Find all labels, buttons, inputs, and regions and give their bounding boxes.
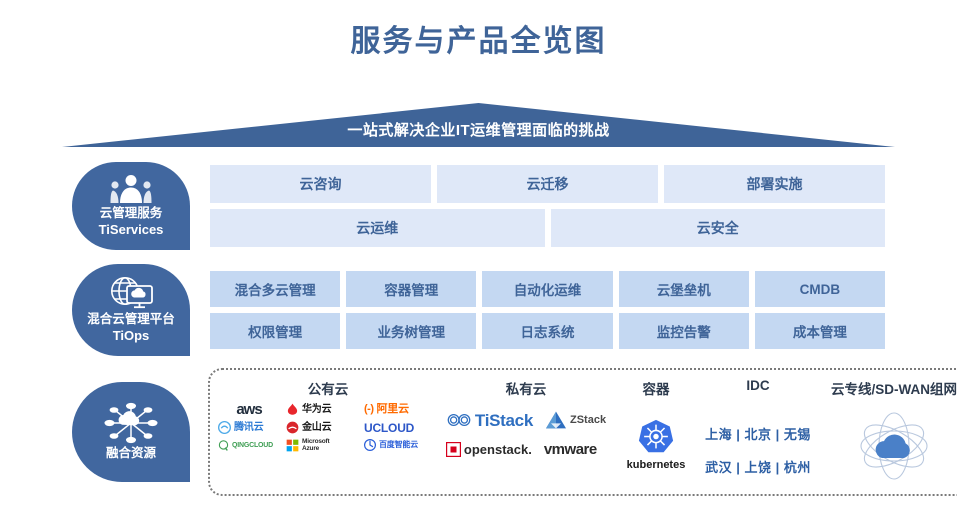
public-cloud-logos: aws 华为云 (-) 阿里云 腾讯云 (218, 402, 438, 453)
resource-column-idc: IDC 上海 | 北京 | 无锡 武汉 | 上饶 | 杭州 (702, 378, 814, 488)
roof-banner: 一站式解决企业IT运维管理面临的挑战 (62, 103, 895, 147)
baidu-cloud-logo[interactable]: 百度智能云 (364, 439, 438, 451)
kubernetes-logo[interactable]: kubernetes (627, 418, 686, 471)
team-people-icon (110, 174, 152, 204)
idc-locations: 上海 | 北京 | 无锡 武汉 | 上饶 | 杭州 (705, 420, 811, 476)
cell-container-mgmt[interactable]: 容器管理 (346, 271, 476, 307)
badge-label: 融合资源 (106, 446, 156, 462)
logo-line: aws 华为云 (-) 阿里云 (218, 402, 438, 417)
kubernetes-helm-icon (637, 418, 675, 456)
idc-line-1: 上海 | 北京 | 无锡 (705, 424, 811, 443)
badge-tiops[interactable]: 混合云管理平台 TiOps (72, 264, 190, 356)
microsoft-azure-logo[interactable]: Microsoft Azure (286, 438, 358, 453)
ops-cell-grid: 混合多云管理 容器管理 自动化运维 云堡垒机 CMDB 权限管理 业务树管理 日… (210, 271, 885, 349)
badge-converged-resources[interactable]: 融合资源 (72, 382, 190, 482)
baidu-mark-icon (364, 439, 376, 451)
cell-multicloud-mgmt[interactable]: 混合多云管理 (210, 271, 340, 307)
tistack-mark-icon (446, 410, 472, 430)
badge-tiservices[interactable]: 云管理服务 TiServices (72, 162, 190, 250)
cell-cloud-ops[interactable]: 云运维 (210, 209, 545, 247)
row-cloud-managed-services: 云管理服务 TiServices 云咨询 云迁移 部署实施 云运维 云安全 (0, 158, 957, 254)
cell-automation-ops[interactable]: 自动化运维 (482, 271, 612, 307)
cell-cloud-migration[interactable]: 云迁移 (437, 165, 658, 203)
services-cell-grid: 云咨询 云迁移 部署实施 云运维 云安全 (210, 165, 885, 247)
resource-column-private-cloud: 私有云 TiStack (442, 378, 610, 488)
openstack-logo[interactable]: openstack. (446, 442, 532, 457)
resource-column-public-cloud: 公有云 aws 华为云 (-) 阿里云 (214, 378, 442, 488)
aliyun-logo[interactable]: (-) 阿里云 (364, 404, 438, 415)
badge-label: 云管理服务 (100, 206, 163, 222)
zstack-logo[interactable]: ZStack (545, 410, 606, 430)
microsoft-squares-icon (286, 439, 299, 452)
column-heading: 公有云 (308, 378, 349, 396)
tencent-mark-icon (218, 421, 231, 434)
services-row-1: 云咨询 云迁移 部署实施 (210, 165, 885, 203)
column-heading: IDC (746, 378, 769, 396)
huawei-cloud-logo[interactable]: 华为云 (286, 403, 358, 416)
cell-cmdb[interactable]: CMDB (755, 271, 885, 307)
vmware-logo[interactable]: vmware (544, 442, 597, 457)
zstack-mark-icon (545, 410, 567, 430)
tistack-logo[interactable]: TiStack (446, 410, 533, 430)
resource-column-sdwan: 云专线/SD-WAN组网 (814, 378, 957, 488)
kubernetes-label: kubernetes (627, 459, 686, 471)
cell-business-tree[interactable]: 业务树管理 (346, 313, 476, 349)
huawei-mark-icon (286, 403, 299, 416)
cell-cloud-bastion[interactable]: 云堡垒机 (619, 271, 749, 307)
idc-line-2: 武汉 | 上饶 | 杭州 (705, 457, 811, 476)
cell-monitoring-alerts[interactable]: 监控告警 (619, 313, 749, 349)
cell-cost-mgmt[interactable]: 成本管理 (755, 313, 885, 349)
resource-column-container: 容器 k (610, 378, 702, 488)
qingcloud-logo[interactable]: QINGCLOUD (218, 440, 280, 451)
ucloud-logo[interactable]: UCLOUD (364, 422, 438, 434)
column-heading: 私有云 (506, 378, 547, 396)
cell-cloud-security[interactable]: 云安全 (551, 209, 886, 247)
cell-deployment[interactable]: 部署实施 (664, 165, 885, 203)
badge-sublabel: TiOps (113, 328, 150, 344)
private-cloud-logos: TiStack ZStack (446, 410, 606, 457)
openstack-mark-icon (446, 442, 461, 457)
kingsoft-mark-icon (286, 421, 299, 434)
ops-row-2: 权限管理 业务树管理 日志系统 监控告警 成本管理 (210, 313, 885, 349)
cell-log-system[interactable]: 日志系统 (482, 313, 612, 349)
logo-line: QINGCLOUD Microsoft Azure 百度智能云 (218, 438, 438, 453)
services-row-2: 云运维 云安全 (210, 209, 885, 247)
cloud-orbit-icon (851, 406, 937, 491)
ops-row-1: 混合多云管理 容器管理 自动化运维 云堡垒机 CMDB (210, 271, 885, 307)
roof-banner-text: 一站式解决企业IT运维管理面临的挑战 (62, 103, 895, 147)
column-heading: 云专线/SD-WAN组网 (831, 378, 957, 396)
badge-sublabel: TiServices (99, 222, 164, 238)
cell-cloud-consulting[interactable]: 云咨询 (210, 165, 431, 203)
tencent-cloud-logo[interactable]: 腾讯云 (218, 421, 280, 434)
logo-line: openstack. vmware (446, 442, 606, 457)
badge-label: 混合云管理平台 (87, 312, 175, 328)
cloud-network-icon (104, 402, 158, 444)
cell-permission-mgmt[interactable]: 权限管理 (210, 313, 340, 349)
column-heading: 容器 (643, 378, 670, 396)
row-hybrid-cloud-platform: 混合云管理平台 TiOps 混合多云管理 容器管理 自动化运维 云堡垒机 CMD… (0, 262, 957, 358)
kingsoft-cloud-logo[interactable]: 金山云 (286, 421, 358, 434)
logo-line: TiStack ZStack (446, 410, 606, 430)
page-title: 服务与产品全览图 (0, 16, 957, 60)
logo-line: 腾讯云 金山云 UCLOUD (218, 421, 438, 434)
globe-monitor-cloud-icon (108, 276, 154, 310)
aws-logo[interactable]: aws (218, 402, 280, 417)
row-converged-resources: 融合资源 公有云 aws 华为云 (-) 阿里云 (0, 364, 957, 500)
qingcloud-mark-icon (218, 440, 229, 451)
resources-dotted-box: 公有云 aws 华为云 (-) 阿里云 (208, 368, 957, 496)
